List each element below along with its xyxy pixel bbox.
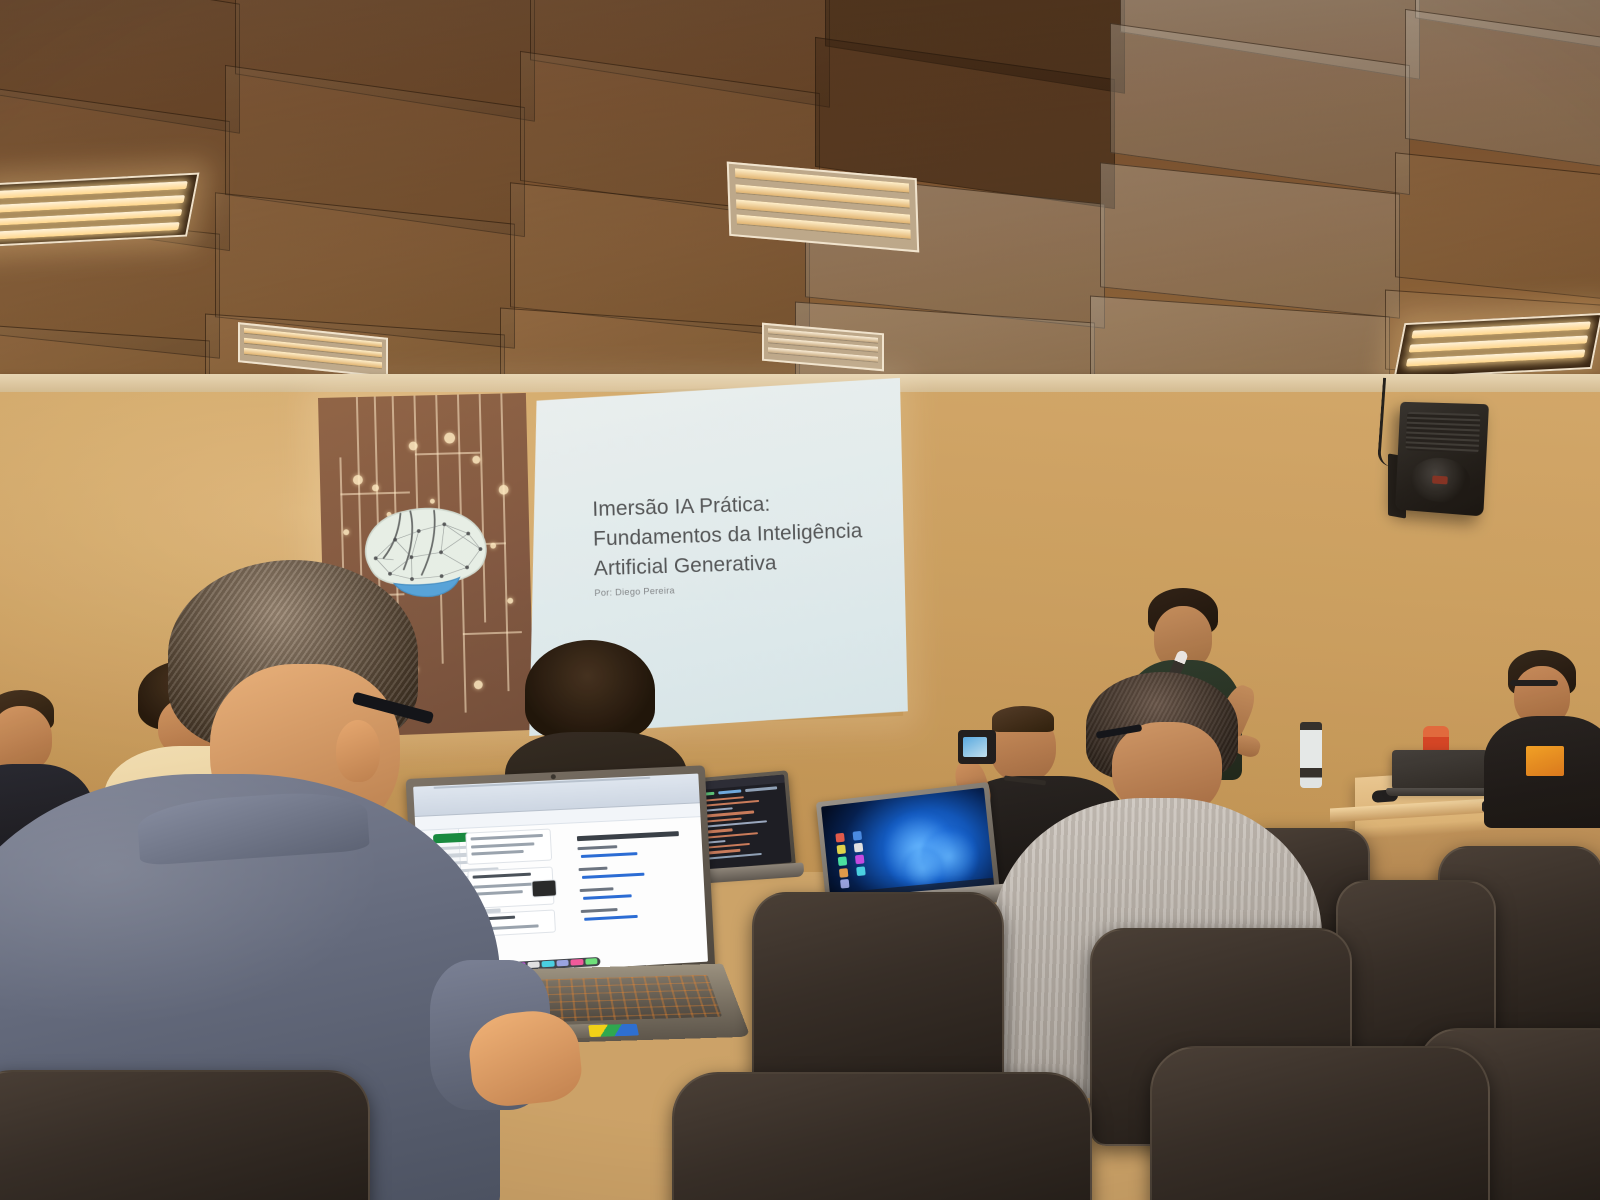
slide-byline: Por: Diego Pereira	[594, 585, 675, 598]
webcam-icon	[551, 774, 556, 779]
desktop-icon[interactable]	[852, 831, 862, 841]
attendee-black-tee	[1490, 650, 1600, 820]
dock-icon[interactable]	[585, 958, 598, 965]
eyeglasses-icon	[1510, 680, 1558, 686]
camera-recording-icon	[958, 730, 996, 764]
desktop-icon[interactable]	[835, 833, 844, 843]
water-bottle-icon	[1300, 722, 1322, 788]
dock-icon[interactable]	[556, 960, 569, 967]
ceiling-light-icon	[0, 173, 200, 248]
desktop-icon[interactable]	[855, 854, 865, 864]
desktop-icon[interactable]	[840, 879, 849, 889]
table-laptop	[1392, 750, 1488, 796]
thumbnail	[531, 879, 558, 897]
ear	[336, 720, 380, 782]
pa-speaker-icon	[1395, 402, 1489, 517]
ceiling-light-icon	[1393, 313, 1600, 379]
desktop-icon[interactable]	[856, 866, 866, 876]
desktop-icon[interactable]	[839, 868, 848, 878]
desktop-icon[interactable]	[854, 843, 864, 853]
dock-icon[interactable]	[542, 961, 555, 968]
windows-11-desktop	[821, 788, 994, 903]
dock-icon[interactable]	[571, 959, 584, 966]
desktop-icon[interactable]	[836, 845, 845, 855]
slide-title: Imersão IA Prática: Fundamentos da Intel…	[592, 486, 893, 584]
ceiling	[0, 0, 1600, 392]
chair[interactable]	[0, 1070, 370, 1200]
photo-scene: Imersão IA Prática: Fundamentos da Intel…	[0, 0, 1600, 1200]
laptop-sticker-icon	[588, 1024, 639, 1037]
document-heading	[577, 831, 679, 841]
desktop-icon[interactable]	[837, 856, 846, 866]
chair[interactable]	[672, 1072, 1092, 1200]
chair[interactable]	[1150, 1046, 1490, 1200]
tshirt-graphic	[1526, 746, 1564, 776]
